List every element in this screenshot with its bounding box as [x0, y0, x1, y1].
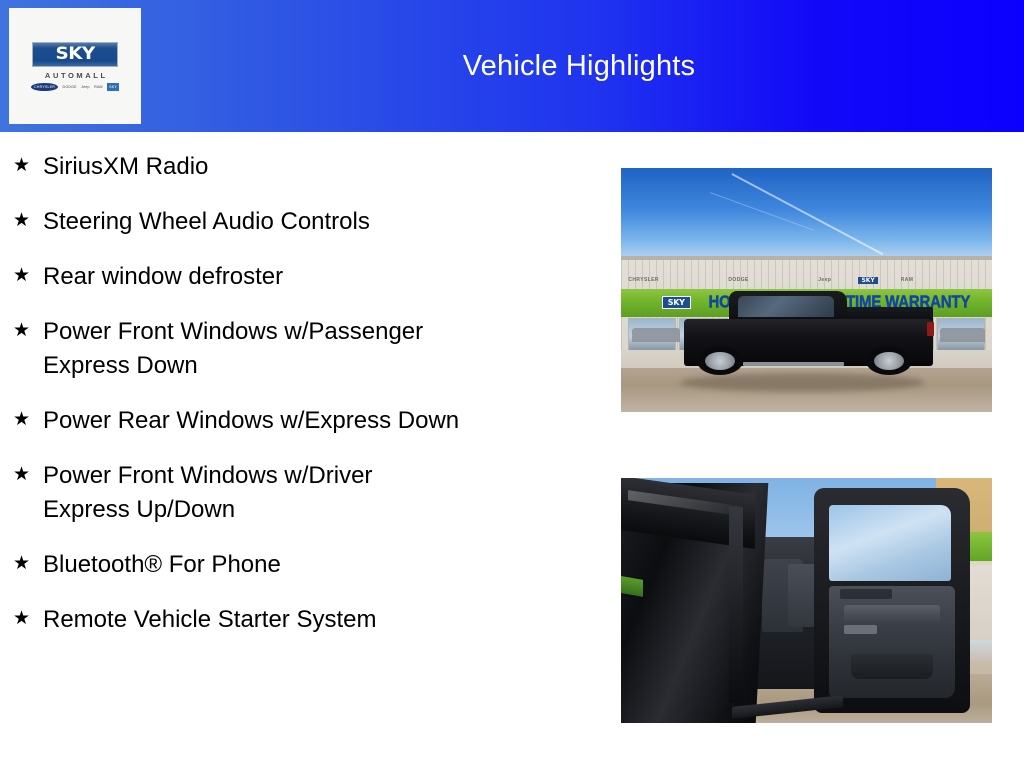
truck-windows [738, 296, 834, 317]
dodge-sign-text: DODGE [728, 277, 748, 283]
banner-sky-badge: SKY [662, 296, 691, 309]
sky-brand-icon: SKY [107, 83, 119, 91]
dealer-logo[interactable]: SKY AUTOMALL CHRYSLER DODGE Jeep RAM SKY [9, 8, 141, 124]
ram-sign-text: RAM [901, 277, 914, 283]
list-item: ★ Steering Wheel Audio Controls [0, 205, 610, 239]
building-brand-row: CHRYSLER DODGE Jeep RAM . [628, 273, 984, 288]
star-icon: ★ [13, 205, 43, 235]
parked-car [632, 328, 680, 343]
chrysler-sign-text: CHRYSLER [628, 277, 659, 283]
brand-logo-strip: CHRYSLER DODGE Jeep RAM SKY [31, 83, 119, 91]
truck-running-board [743, 362, 843, 366]
door-armrest [844, 605, 940, 622]
star-icon: ★ [13, 548, 43, 578]
vehicle-photo-exterior[interactable]: CHRYSLER DODGE Jeep RAM . SKY SKY HOME O… [621, 168, 992, 412]
star-icon: ★ [13, 315, 43, 345]
logo-inner: SKY AUTOMALL CHRYSLER DODGE Jeep RAM SKY [27, 42, 123, 91]
list-item: ★ SiriusXM Radio [0, 150, 610, 184]
list-item: ★ Remote Vehicle Starter System [0, 603, 610, 637]
highlight-label: Steering Wheel Audio Controls [43, 205, 610, 239]
sky-sign-badge: SKY [858, 277, 877, 284]
chrysler-brand-icon: CHRYSLER [31, 83, 58, 91]
highlight-label: Rear window defroster [43, 260, 610, 294]
sky-logo-box: SKY [32, 42, 118, 67]
truck-taillight [927, 322, 934, 337]
page-content: ★ SiriusXM Radio ★ Steering Wheel Audio … [0, 132, 1024, 768]
dodge-brand-icon: DODGE [63, 84, 77, 90]
star-icon: ★ [13, 459, 43, 489]
highlight-label: Bluetooth® For Phone [43, 548, 610, 582]
list-item: ★ Rear window defroster [0, 260, 610, 294]
b-pillar [729, 507, 744, 703]
door-window-glass [829, 505, 951, 581]
highlight-label: Remote Vehicle Starter System [43, 603, 610, 637]
page-title: Vehicle Highlights [152, 0, 1006, 132]
parked-car [940, 328, 985, 343]
list-item: ★ Power Front Windows w/Passenger Expres… [0, 315, 610, 383]
window-switch-panel [840, 589, 892, 599]
vehicle-highlights-list: ★ SiriusXM Radio ★ Steering Wheel Audio … [0, 132, 610, 658]
star-icon: ★ [13, 603, 43, 633]
star-icon: ★ [13, 150, 43, 180]
door-handle [844, 625, 877, 634]
highlight-label: Power Front Windows w/Driver Express Up/… [43, 459, 610, 527]
page-header: Vehicle Highlights [0, 0, 1024, 132]
list-item: ★ Power Front Windows w/Driver Express U… [0, 459, 610, 527]
ram-brand-icon: RAM [94, 84, 103, 90]
star-icon: ★ [13, 404, 43, 434]
highlight-label: Power Rear Windows w/Express Down [43, 404, 610, 438]
jeep-sign-text: Jeep [818, 277, 831, 283]
sky-logo-text: SKY [55, 44, 94, 64]
vehicle-photo-interior[interactable]: H SKY [621, 478, 992, 723]
door-storage-pocket [851, 654, 933, 679]
door-interior-panel [829, 586, 955, 699]
jeep-brand-icon: Jeep [81, 84, 90, 90]
highlight-label: Power Front Windows w/Passenger Express … [43, 315, 610, 383]
list-item: ★ Bluetooth® For Phone [0, 548, 610, 582]
automall-subtitle: AUTOMALL [42, 71, 107, 80]
list-item: ★ Power Rear Windows w/Express Down [0, 404, 610, 438]
star-icon: ★ [13, 260, 43, 290]
highlight-label: SiriusXM Radio [43, 150, 610, 184]
